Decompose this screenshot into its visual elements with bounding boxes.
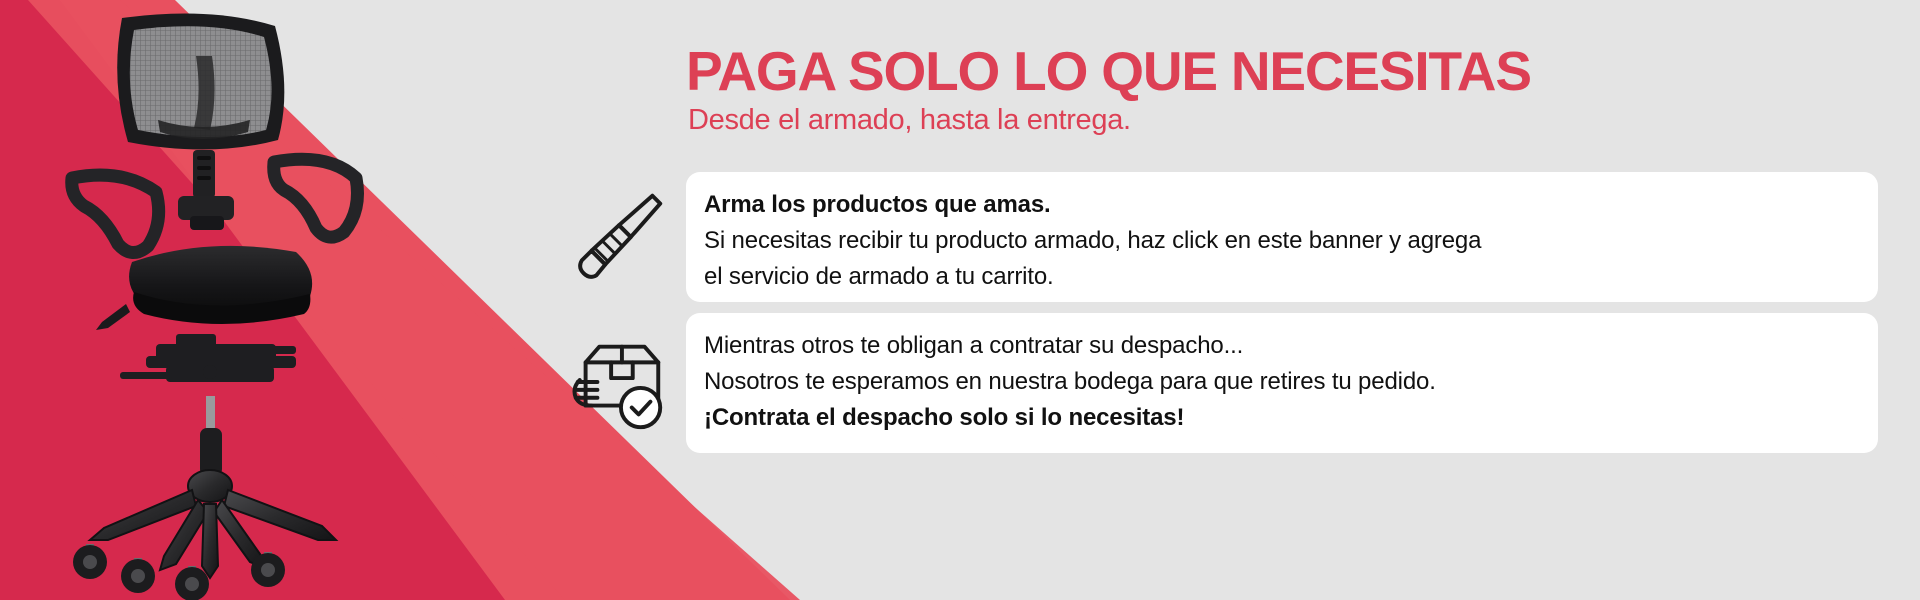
- banner-content-column: PAGA SOLO LO QUE NECESITAS Desde el arma…: [686, 0, 1886, 600]
- promo-banner[interactable]: PAGA SOLO LO QUE NECESITAS Desde el arma…: [0, 0, 1920, 600]
- card-line: el servicio de armado a tu carrito.: [704, 259, 1864, 295]
- info-card-despacho[interactable]: Mientras otros te obligan a contratar su…: [686, 313, 1878, 453]
- product-image-exploded-chair: [60, 0, 480, 600]
- info-card-armado-text: Arma los productos que amas. Si necesita…: [704, 187, 1864, 295]
- card-line: ¡Contrata el despacho solo si lo necesit…: [704, 400, 1864, 436]
- card-line: Mientras otros te obligan a contratar su…: [704, 328, 1864, 364]
- page-title: PAGA SOLO LO QUE NECESITAS: [686, 44, 1886, 99]
- banner-subtitle: Desde el armado, hasta la entrega.: [688, 106, 1888, 135]
- card-line: Arma los productos que amas.: [704, 187, 1864, 223]
- card-line: Si necesitas recibir tu producto armado,…: [704, 223, 1864, 259]
- info-card-despacho-text: Mientras otros te obligan a contratar su…: [704, 328, 1864, 436]
- package-pickup-icon: [564, 329, 672, 437]
- info-card-armado[interactable]: Arma los productos que amas. Si necesita…: [686, 172, 1878, 302]
- card-line: Nosotros te esperamos en nuestra bodega …: [704, 364, 1864, 400]
- screwdriver-icon: [566, 182, 674, 290]
